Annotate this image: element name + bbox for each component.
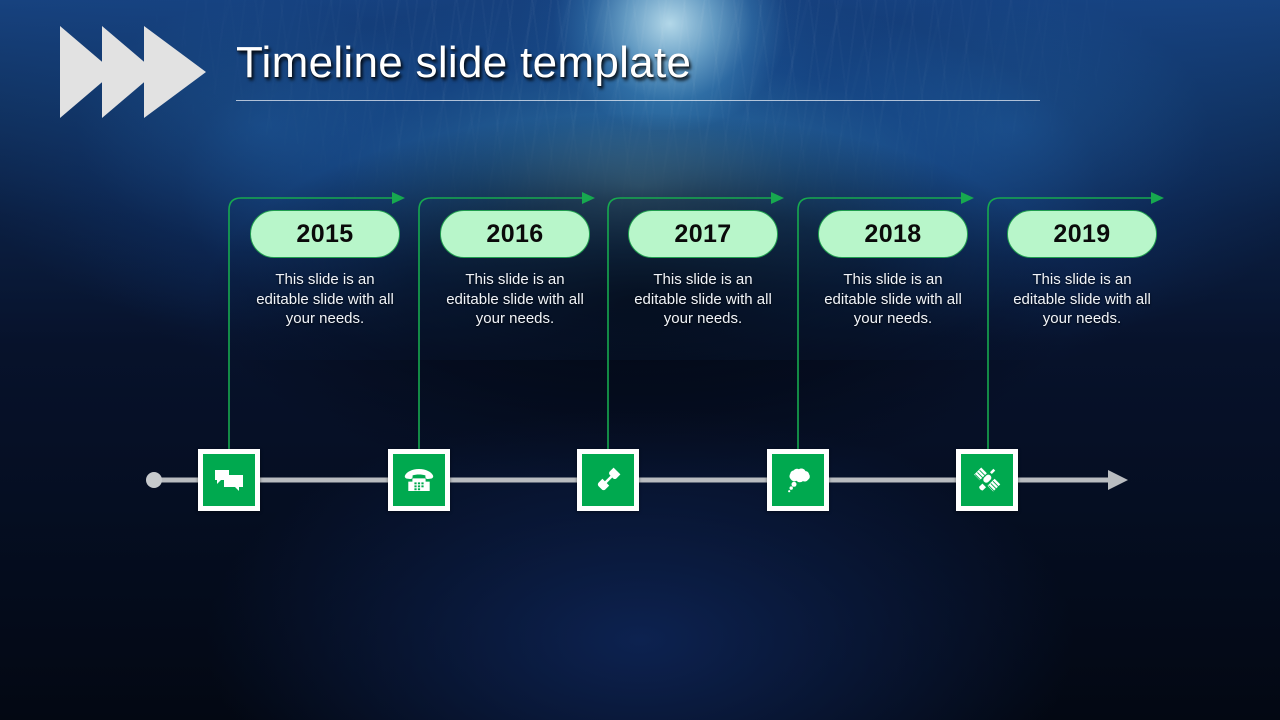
- timeline-axis: [0, 0, 1280, 720]
- satellite-icon: [961, 454, 1013, 506]
- phone-handset-icon: [582, 454, 634, 506]
- timeline-node-2019[interactable]: [956, 449, 1018, 511]
- timeline-node-2017[interactable]: [577, 449, 639, 511]
- chat-bubbles-icon: [203, 454, 255, 506]
- desk-telephone-icon: [393, 454, 445, 506]
- timeline-node-2015[interactable]: [198, 449, 260, 511]
- arrow-right-icon: [1108, 470, 1128, 490]
- timeline-node-2016[interactable]: [388, 449, 450, 511]
- thought-cloud-icon: [772, 454, 824, 506]
- timeline-node-2018[interactable]: [767, 449, 829, 511]
- circle-dot-icon: [146, 472, 162, 488]
- slide-canvas: Timeline slide template 2015: [0, 0, 1280, 720]
